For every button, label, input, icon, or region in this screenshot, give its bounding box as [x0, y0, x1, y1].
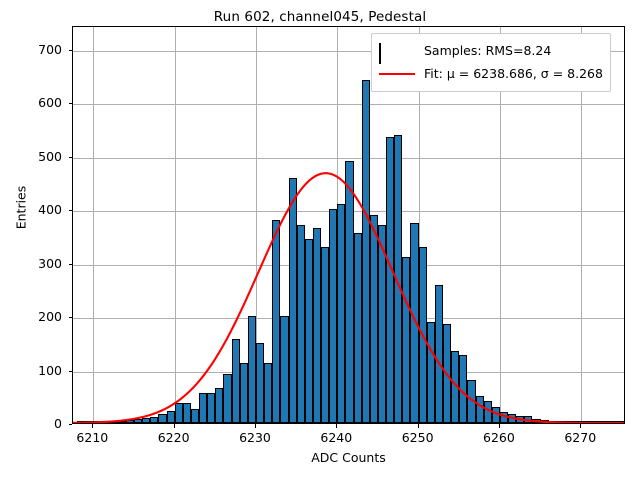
histogram-bar [451, 351, 459, 423]
legend-line-icon [379, 67, 415, 81]
histogram-bar [492, 407, 500, 423]
x-tick-label-6270: 6270 [550, 430, 610, 445]
histogram-bar [435, 285, 443, 423]
histogram-bar [158, 414, 166, 423]
histogram-bar [77, 421, 85, 423]
y-tick-label-700: 700 [2, 42, 62, 57]
x-tick-6270 [580, 424, 581, 428]
y-tick-label-500: 500 [2, 149, 62, 164]
histogram-bar [427, 322, 435, 424]
histogram-bar [126, 420, 134, 423]
histogram-bar [280, 316, 288, 423]
histogram-bar [606, 421, 614, 423]
legend-label-samples: Samples: RMS=8.24 [424, 43, 551, 58]
histogram-bar [199, 393, 207, 423]
histogram-bar [402, 257, 410, 423]
x-tick-label-6230: 6230 [225, 430, 285, 445]
gridline-y-600 [73, 104, 624, 105]
x-tick-6250 [418, 424, 419, 428]
legend-item-samples[interactable]: Samples: RMS=8.24 [379, 39, 603, 62]
histogram-bar [101, 421, 109, 423]
x-tick-6220 [174, 424, 175, 428]
histogram-bar [256, 343, 264, 423]
histogram-bar [207, 393, 215, 423]
histogram-bar [516, 416, 524, 423]
histogram-bar [370, 215, 378, 423]
histogram-bar [614, 421, 622, 423]
x-tick-6240 [336, 424, 337, 428]
histogram-bar [581, 421, 589, 423]
histogram-bar [329, 209, 337, 423]
histogram-bar [476, 396, 484, 423]
histogram-bar [467, 380, 475, 423]
y-axis-label: Entries [14, 128, 29, 288]
histogram-bar [386, 137, 394, 423]
x-tick-6260 [499, 424, 500, 428]
histogram-bar [443, 324, 451, 423]
x-tick-label-6260: 6260 [469, 430, 529, 445]
histogram-bar [410, 223, 418, 423]
histogram-bar [289, 178, 297, 423]
histogram-bar [142, 418, 150, 423]
chart-title: Run 602, channel045, Pedestal [0, 9, 640, 25]
histogram-bar [549, 421, 557, 423]
y-tick-200 [69, 317, 73, 318]
histogram-bar [532, 419, 540, 423]
histogram-bar [589, 421, 597, 423]
histogram-bar [215, 388, 223, 423]
gridline-x-6220 [175, 27, 176, 423]
x-tick-label-6250: 6250 [388, 430, 448, 445]
chart-legend[interactable]: Samples: RMS=8.24 Fit: μ = 6238.686, σ =… [371, 33, 611, 92]
gridline-y-500 [73, 158, 624, 159]
histogram-bar [240, 363, 248, 423]
histogram-bar [321, 247, 329, 423]
y-tick-300 [69, 264, 73, 265]
histogram-bar [394, 135, 402, 423]
histogram-bar [484, 401, 492, 423]
legend-patch-icon [379, 44, 415, 58]
y-tick-label-600: 600 [2, 95, 62, 110]
histogram-bar [134, 419, 142, 423]
histogram-bar [508, 414, 516, 423]
y-tick-400 [69, 210, 73, 211]
histogram-bar [354, 233, 362, 423]
x-tick-6210 [92, 424, 93, 428]
histogram-bar [297, 225, 305, 423]
histogram-bar [191, 409, 199, 423]
histogram-bar [232, 339, 240, 423]
histogram-bar [598, 421, 606, 423]
histogram-bar [272, 220, 280, 423]
histogram-bar [524, 416, 532, 423]
histogram-bar [93, 421, 101, 423]
y-tick-label-200: 200 [2, 309, 62, 324]
y-tick-label-400: 400 [2, 202, 62, 217]
x-tick-label-6210: 6210 [62, 430, 122, 445]
figure-canvas: Run 602, channel045, Pedestal 6210622062… [0, 0, 640, 480]
histogram-bar [313, 228, 321, 423]
histogram-bar [459, 355, 467, 423]
histogram-bar [541, 420, 549, 423]
histogram-bar [175, 403, 183, 423]
y-tick-600 [69, 103, 73, 104]
histogram-bar [362, 80, 370, 424]
y-tick-label-100: 100 [2, 363, 62, 378]
x-tick-6230 [255, 424, 256, 428]
histogram-bar [345, 161, 353, 423]
histogram-bar [223, 374, 231, 423]
y-tick-700 [69, 50, 73, 51]
histogram-bar [305, 239, 313, 423]
histogram-bar [500, 412, 508, 423]
y-tick-100 [69, 371, 73, 372]
histogram-bar [85, 421, 93, 423]
histogram-bar [150, 417, 158, 423]
histogram-bar [264, 363, 272, 423]
histogram-bar [378, 225, 386, 423]
y-tick-label-300: 300 [2, 256, 62, 271]
y-tick-label-0: 0 [2, 416, 62, 431]
histogram-bar [573, 421, 581, 423]
x-axis-label: ADC Counts [72, 450, 625, 465]
histogram-bar [118, 421, 126, 423]
histogram-bar [557, 421, 565, 423]
y-tick-0 [69, 424, 73, 425]
histogram-bar [167, 411, 175, 423]
histogram-bar [248, 316, 256, 423]
gridline-x-6210 [93, 27, 94, 423]
histogram-bar [622, 421, 624, 423]
legend-label-fit: Fit: μ = 6238.686, σ = 8.268 [424, 66, 603, 81]
histogram-bar [565, 421, 573, 423]
legend-item-fit[interactable]: Fit: μ = 6238.686, σ = 8.268 [379, 62, 603, 85]
x-tick-label-6220: 6220 [144, 430, 204, 445]
x-tick-label-6240: 6240 [306, 430, 366, 445]
histogram-bar [419, 247, 427, 423]
y-tick-500 [69, 157, 73, 158]
histogram-bar [110, 421, 118, 423]
histogram-bar [183, 403, 191, 423]
histogram-bar [337, 204, 345, 423]
